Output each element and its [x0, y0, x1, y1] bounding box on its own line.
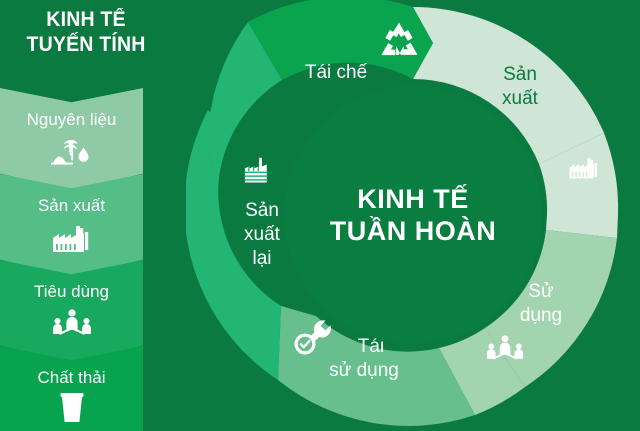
linear-step-label: Chất thải	[0, 368, 143, 388]
linear-step-tieu-dung[interactable]: Tiêu dùng	[0, 260, 143, 362]
factory-stack-icon	[245, 158, 268, 183]
circle-segment-label: Sản	[245, 200, 279, 221]
circle-segment-label: Tái chế	[305, 62, 368, 83]
circle-segment-label: Sản	[503, 64, 537, 85]
circle-segment-label-2: sử dụng	[329, 360, 399, 381]
linear-step-nguyen-lieu[interactable]: Nguyên liệu	[0, 88, 143, 190]
circle-segment-san-xuat-lai[interactable]: Sản xuất lại	[186, 22, 282, 380]
factory-icon	[51, 222, 93, 252]
linear-step-san-xuat[interactable]: Sản xuất	[0, 174, 143, 276]
circle-segment-label-2: xuất	[244, 224, 281, 245]
infographic-canvas: KINH TẾ TUYẾN TÍNH Nguyên liệu Sản x	[0, 0, 640, 431]
linear-step-stack: Nguyên liệu Sản xuất	[0, 88, 143, 431]
palm-tree-oil-drop-icon	[50, 134, 94, 168]
circular-economy-panel: Sản xuất	[186, 0, 640, 431]
linear-step-label: Nguyên liệu	[0, 110, 143, 130]
linear-economy-title: KINH TẾ TUYẾN TÍNH	[6, 7, 166, 57]
circle-segment-label-3: lại	[252, 248, 271, 269]
center-title-line1: KINH TẾ	[357, 183, 469, 214]
linear-economy-panel: KINH TẾ TUYẾN TÍNH Nguyên liệu Sản x	[0, 0, 190, 431]
linear-step-label: Tiêu dùng	[0, 282, 143, 302]
circle-segment-label: Sử	[528, 281, 554, 302]
consumers-icon	[52, 308, 92, 336]
circle-center: KINH TẾ TUẦN HOÀN	[284, 86, 542, 344]
circle-segment-label-2: xuất	[502, 88, 539, 109]
trash-bin-icon	[58, 392, 86, 424]
linear-step-label: Sản xuất	[0, 196, 143, 216]
center-title-line2: TUẦN HOÀN	[330, 215, 497, 246]
circle-segment-label-2: dụng	[520, 305, 562, 326]
